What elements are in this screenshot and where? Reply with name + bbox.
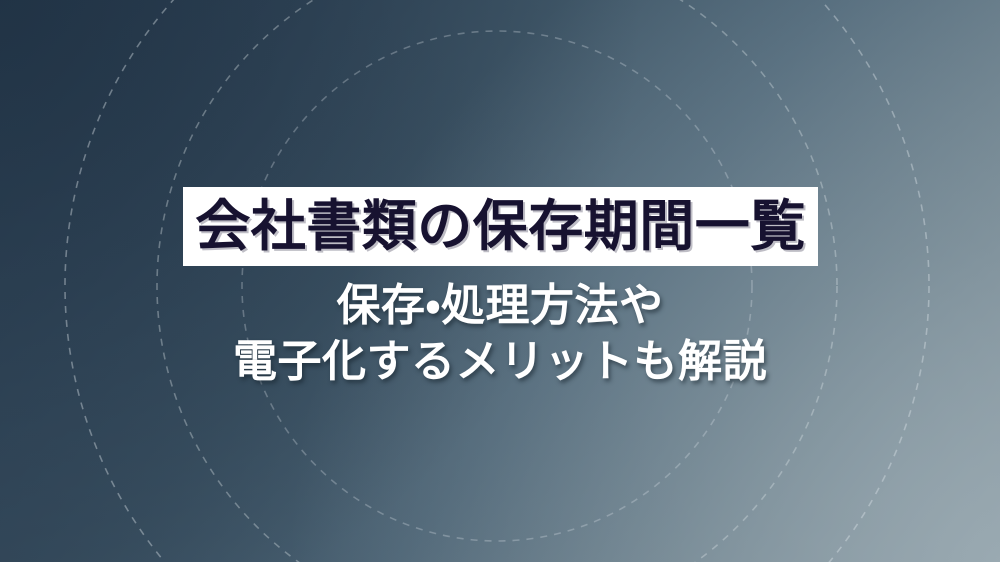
slide-canvas: 会社書類の保存期間一覧 保存・処理方法や 電子化するメリットも解説: [0, 0, 1000, 562]
subtitle-line-1: 保存・処理方法や: [0, 278, 1000, 334]
page-title: 会社書類の保存期間一覧: [195, 199, 806, 254]
subtitle-line-2: 電子化するメリットも解説: [0, 334, 1000, 390]
title-banner: 会社書類の保存期間一覧: [183, 187, 818, 266]
subtitle-block: 保存・処理方法や 電子化するメリットも解説: [0, 278, 1000, 391]
slide-content: 会社書類の保存期間一覧 保存・処理方法や 電子化するメリットも解説: [0, 0, 1000, 562]
